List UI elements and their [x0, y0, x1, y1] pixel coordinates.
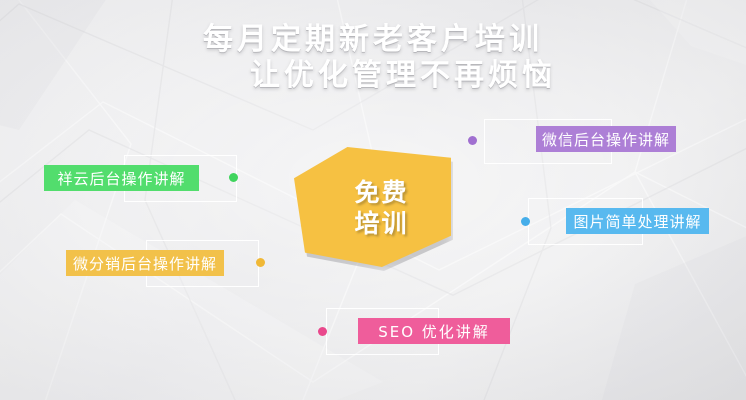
node-dot-xiangyun-admin [229, 173, 238, 182]
node-dot-micro-distribution-admin [256, 258, 265, 267]
feature-chip-xiangyun-admin[interactable]: 祥云后台操作讲解 [44, 165, 199, 191]
feature-chip-image-editing[interactable]: 图片简单处理讲解 [566, 208, 709, 234]
feature-chip-seo-optimization[interactable]: SEO 优化讲解 [358, 318, 510, 344]
node-dot-seo-optimization [318, 327, 327, 336]
hexagon-label-line-2: 培训 [354, 208, 408, 239]
node-dot-wechat-admin [468, 136, 477, 145]
feature-chip-micro-distribution-admin[interactable]: 微分销后台操作讲解 [66, 250, 224, 276]
hexagon-label: 免费 培训 [294, 147, 451, 267]
node-dot-image-editing [521, 217, 530, 226]
center-hexagon[interactable]: 免费 培训 [294, 147, 451, 267]
hexagon-label-line-1: 免费 [354, 177, 408, 208]
promo-banner: 每月定期新老客户培训 让优化管理不再烦恼 微信后台操作讲解祥云后台操作讲解图片简… [0, 0, 746, 400]
feature-chip-wechat-admin[interactable]: 微信后台操作讲解 [536, 126, 676, 152]
